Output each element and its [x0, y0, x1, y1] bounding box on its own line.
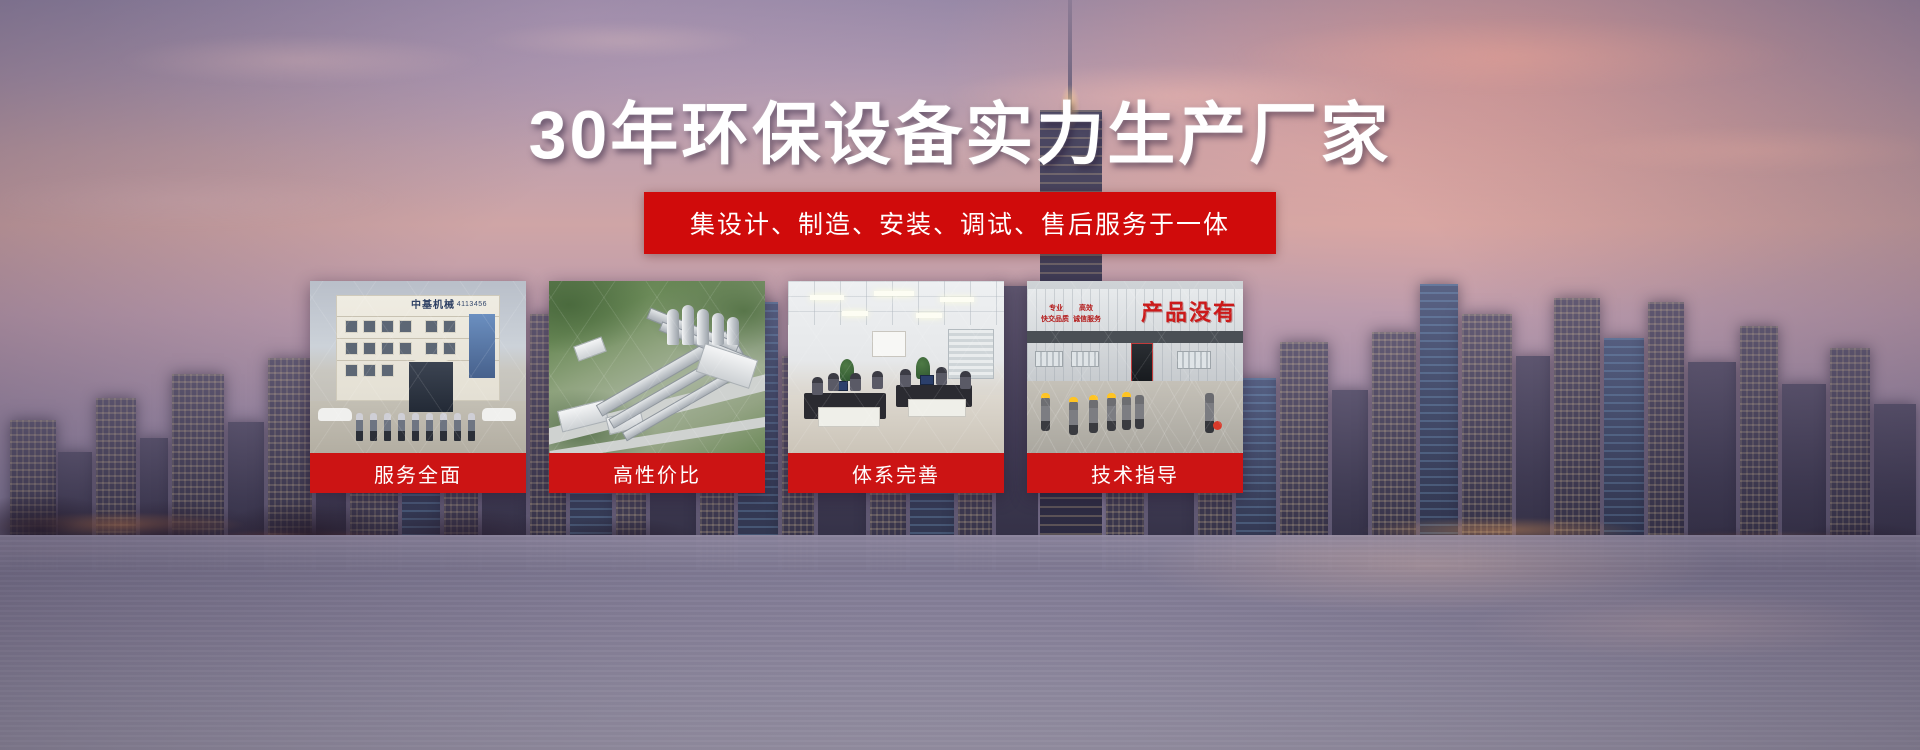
factory-wall-text-4: 诚信服务 [1073, 316, 1101, 325]
feature-card[interactable]: 体系完善 [788, 281, 1004, 493]
subtitle-badge: 集设计、制造、安装、调试、售后服务于一体 [644, 192, 1276, 254]
hero-banner: 30年环保设备实力生产厂家 集设计、制造、安装、调试、售后服务于一体 中基机械 … [0, 0, 1920, 750]
card-label: 体系完善 [788, 453, 1004, 493]
card-label: 服务全面 [310, 453, 526, 493]
card-photo-plant-aerial [549, 281, 765, 453]
feature-card-list: 中基机械 4113456 [310, 281, 1243, 493]
factory-wall-slogan: 产品没有 [1141, 295, 1237, 327]
card-photo-headquarters: 中基机械 4113456 [310, 281, 526, 453]
factory-wall-text-3: 高效 [1079, 305, 1093, 314]
feature-card[interactable]: 产品没有 专业 快交品质 高效 诚信服务 [1027, 281, 1243, 493]
feature-card[interactable]: 中基机械 4113456 [310, 281, 526, 493]
page-title: 30年环保设备实力生产厂家 [0, 98, 1920, 173]
card-photo-factory-yard: 产品没有 专业 快交品质 高效 诚信服务 [1027, 281, 1243, 453]
feature-card[interactable]: 高性价比 [549, 281, 765, 493]
factory-wall-text-1: 专业 [1049, 305, 1063, 314]
card-label: 高性价比 [549, 453, 765, 493]
card-photo-office-interior [788, 281, 1004, 453]
factory-wall-text-2: 快交品质 [1041, 316, 1069, 325]
banner-content: 30年环保设备实力生产厂家 集设计、制造、安装、调试、售后服务于一体 中基机械 … [0, 0, 1920, 750]
building-phone-text: 4113456 [457, 301, 487, 308]
card-label: 技术指导 [1027, 453, 1243, 493]
